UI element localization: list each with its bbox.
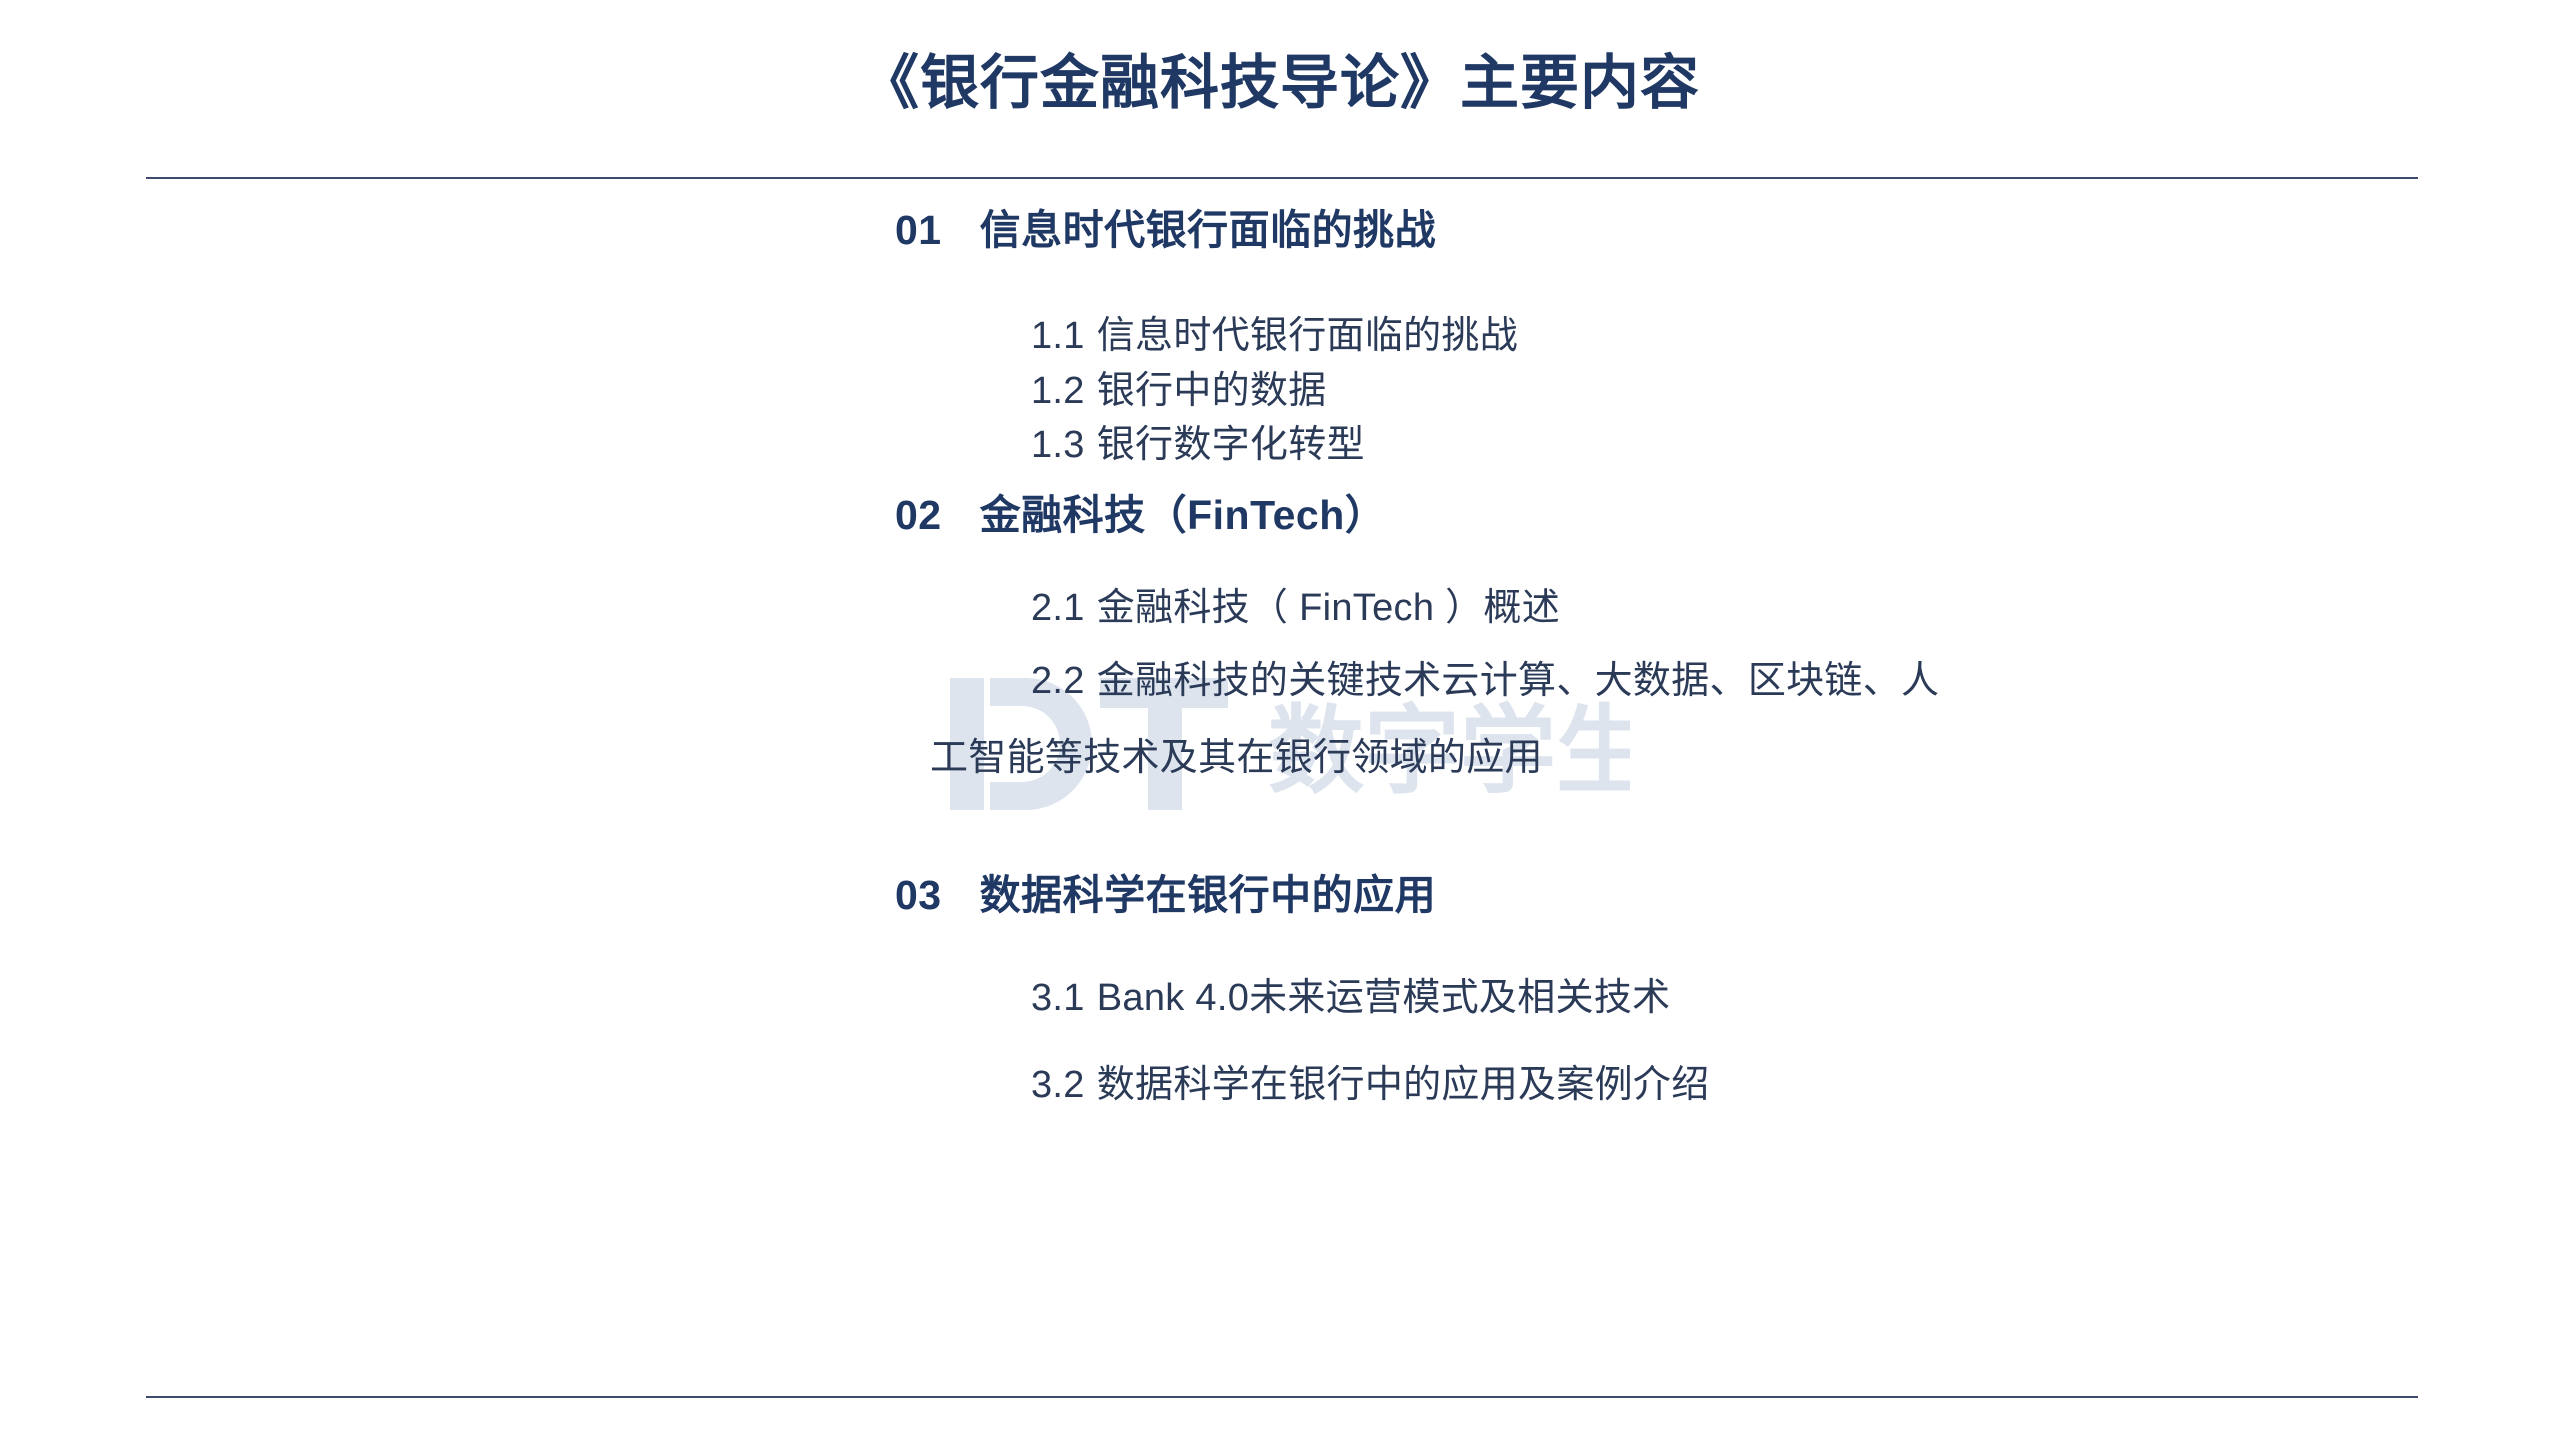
item-text: 金融科技（ FinTech ）概述 [1097, 587, 1560, 629]
section-number: 02 [895, 492, 942, 538]
item-text: 数据科学在银行中的应用及案例介绍 [1097, 1064, 1710, 1106]
outline-item-3-1: 3.1Bank 4.0未来运营模式及相关技术 [1031, 966, 1670, 1021]
item-number: 1.1 [1031, 315, 1085, 357]
item-number: 2.2 [1031, 660, 1085, 702]
section-heading-03: 03数据科学在银行中的应用 [895, 861, 1436, 921]
outline-item-2-1: 2.1金融科技（ FinTech ）概述 [1031, 576, 1560, 631]
item-text: 金融科技的关键技术云计算、大数据、区块链、人 [1097, 660, 1940, 702]
outline-item-1-1: 1.1信息时代银行面临的挑战 [1031, 304, 1518, 359]
section-title: 金融科技（FinTech） [980, 492, 1387, 538]
outline-item-2-2-line2: 工智能等技术及其在银行领域的应用 [930, 726, 1543, 781]
item-text: 信息时代银行面临的挑战 [1097, 315, 1518, 357]
item-text: 银行数字化转型 [1097, 424, 1365, 466]
page-title: 《银行金融科技导论》主要内容 [0, 48, 2560, 119]
section-title: 数据科学在银行中的应用 [980, 872, 1437, 918]
item-number: 2.1 [1031, 587, 1085, 629]
item-number: 1.3 [1031, 424, 1085, 466]
item-number: 3.2 [1031, 1064, 1085, 1106]
slide-canvas: 《银行金融科技导论》主要内容 数字学生 01信息时代银行面临的挑战 1.1信息时… [0, 0, 2560, 1440]
outline-item-1-3: 1.3银行数字化转型 [1031, 413, 1365, 468]
divider-top [146, 177, 2418, 179]
item-number: 1.2 [1031, 370, 1085, 412]
item-number: 3.1 [1031, 977, 1085, 1019]
section-heading-02: 02金融科技（FinTech） [895, 481, 1386, 541]
section-number: 03 [895, 872, 942, 918]
outline-item-2-2-line1: 2.2金融科技的关键技术云计算、大数据、区块链、人 [1031, 649, 1939, 704]
outline-item-3-2: 3.2数据科学在银行中的应用及案例介绍 [1031, 1053, 1710, 1108]
divider-bottom [146, 1396, 2418, 1398]
item-text: Bank 4.0未来运营模式及相关技术 [1097, 977, 1671, 1019]
outline-item-1-2: 1.2银行中的数据 [1031, 359, 1327, 414]
section-title: 信息时代银行面临的挑战 [980, 207, 1437, 253]
outline-body: 01信息时代银行面临的挑战 1.1信息时代银行面临的挑战 1.2银行中的数据 1… [0, 196, 2560, 1376]
section-heading-01: 01信息时代银行面临的挑战 [895, 196, 1436, 256]
section-number: 01 [895, 207, 942, 253]
item-text: 工智能等技术及其在银行领域的应用 [930, 737, 1543, 779]
item-text: 银行中的数据 [1097, 370, 1327, 412]
